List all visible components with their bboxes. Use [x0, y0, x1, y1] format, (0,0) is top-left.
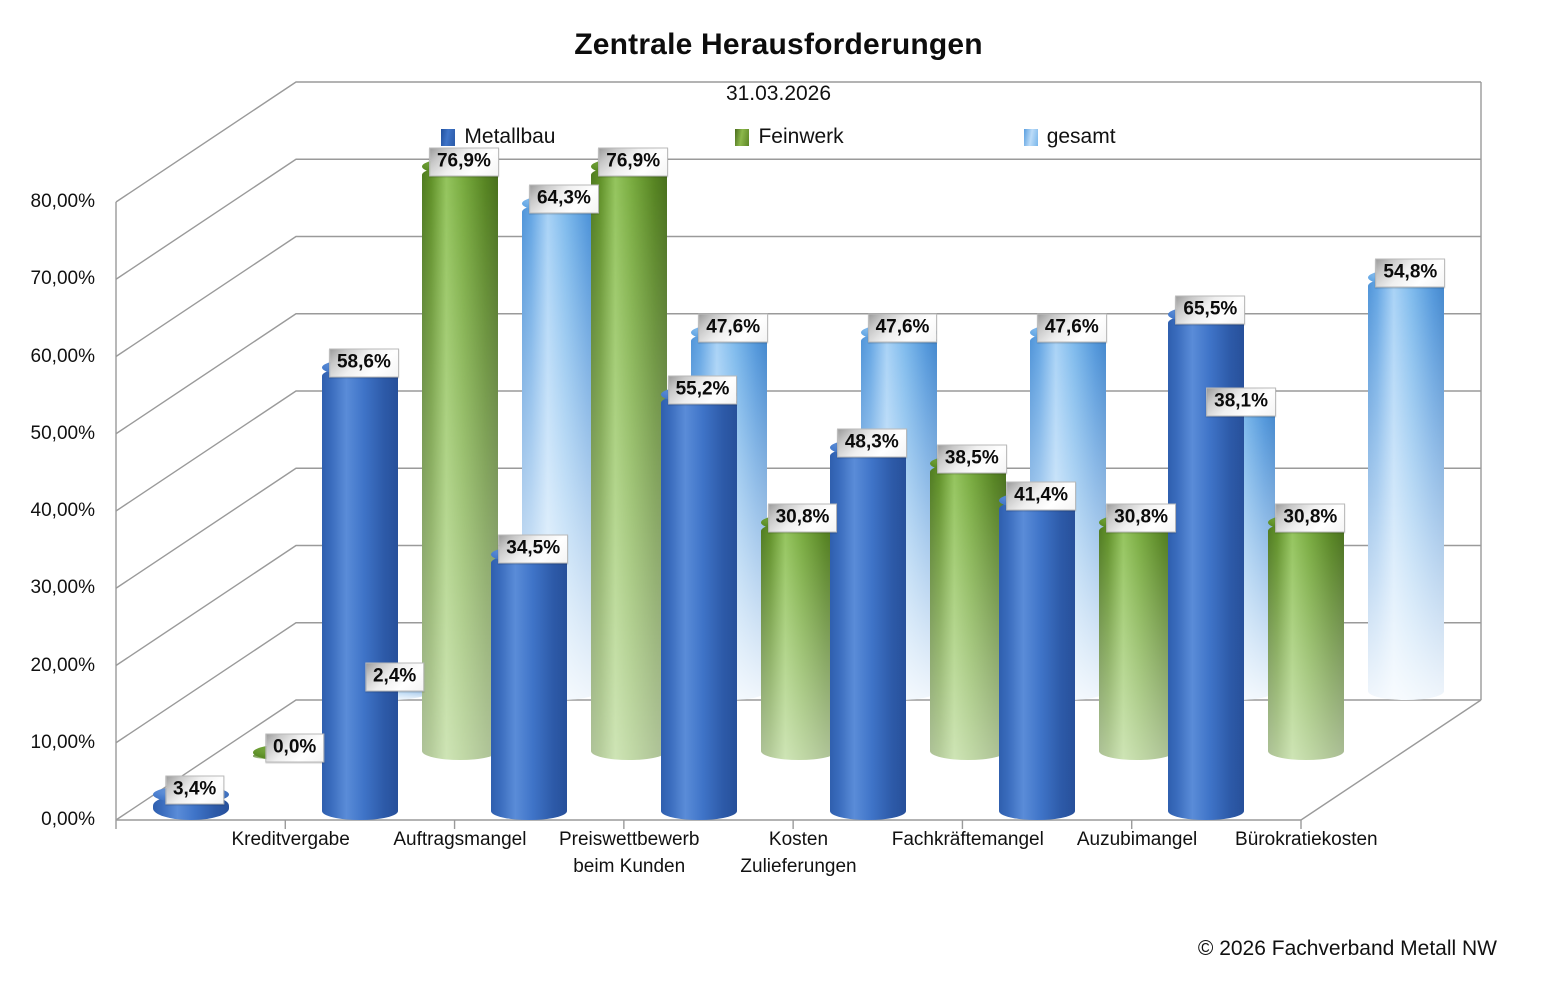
data-label: 3,4% [165, 775, 224, 804]
data-label: 30,8% [768, 504, 838, 533]
x-axis-category-label: Auzubimangel [1077, 826, 1197, 853]
legend-item-metallbau[interactable]: Metallbau [441, 125, 555, 149]
data-label: 54,8% [1375, 258, 1445, 287]
legend-item-gesamt[interactable]: gesamt [1024, 125, 1116, 149]
bar-gesamt-6[interactable] [1368, 277, 1444, 700]
data-label: 76,9% [598, 147, 668, 176]
y-axis-tick: 50,00% [31, 423, 95, 445]
bar-feinwerk-2[interactable] [591, 166, 667, 760]
data-label: 64,3% [529, 185, 599, 214]
data-label: 48,3% [837, 428, 907, 457]
data-label: 47,6% [698, 314, 768, 343]
bar-body [491, 554, 567, 821]
legend-label: Metallbau [464, 125, 555, 149]
legend-label: gesamt [1047, 125, 1116, 149]
data-label: 34,5% [498, 535, 568, 564]
bar-body [322, 367, 398, 820]
chart-title: Zentrale Herausforderungen [0, 28, 1557, 62]
x-axis-category-label: Fachkräftemangel [892, 826, 1044, 853]
bar-body [591, 166, 667, 760]
bar-metallbau-1[interactable] [322, 367, 398, 820]
legend-label: Feinwerk [758, 125, 843, 149]
data-label: 58,6% [329, 349, 399, 378]
y-axis-tick: 10,00% [31, 732, 95, 754]
y-axis-tick: 30,00% [31, 577, 95, 599]
x-axis-category-label: Auftragsmangel [393, 826, 526, 853]
data-label: 38,5% [937, 444, 1007, 473]
bar-body [830, 447, 906, 820]
bar-metallbau-3[interactable] [661, 394, 737, 820]
bar-feinwerk-4[interactable] [930, 463, 1006, 760]
y-axis-tick: 60,00% [31, 346, 95, 368]
bar-body [1268, 522, 1344, 760]
bar-feinwerk-3[interactable] [761, 522, 837, 760]
bar-feinwerk-6[interactable] [1268, 522, 1344, 760]
bar-metallbau-2[interactable] [491, 554, 567, 821]
bar-metallbau-5[interactable] [999, 500, 1075, 820]
data-label: 55,2% [668, 375, 738, 404]
bar-body [930, 463, 1006, 760]
y-axis-tick: 40,00% [31, 500, 95, 522]
legend-item-feinwerk[interactable]: Feinwerk [735, 125, 843, 149]
legend-swatch-icon [441, 129, 455, 146]
bar-body [422, 166, 498, 760]
data-label: 38,1% [1206, 387, 1276, 416]
data-label: 47,6% [1037, 314, 1107, 343]
y-axis-tick: 20,00% [31, 655, 95, 677]
bar-feinwerk-5[interactable] [1099, 522, 1175, 760]
y-axis-tick: 70,00% [31, 268, 95, 290]
bar-body [999, 500, 1075, 820]
bar-body [1099, 522, 1175, 760]
data-label: 76,9% [429, 147, 499, 176]
bar-feinwerk-1[interactable] [422, 166, 498, 760]
bar-metallbau-4[interactable] [830, 447, 906, 820]
legend-swatch-icon [1024, 129, 1038, 146]
legend-swatch-icon [735, 129, 749, 146]
bar-series-group: 2,4%64,3%47,6%47,6%47,6%38,1%54,8%0,0%76… [110, 186, 1540, 820]
data-label: 47,6% [868, 314, 938, 343]
chart-legend: Metallbau Feinwerk gesamt [0, 125, 1557, 149]
data-label: 0,0% [265, 734, 324, 763]
x-axis-category-label: Bürokratiekosten [1235, 826, 1378, 853]
x-axis-tick-labels: KreditvergabeAuftragsmangelPreiswettbewe… [0, 826, 1557, 896]
x-axis-category-label: Kosten Zulieferungen [740, 826, 856, 880]
chart-subtitle: 31.03.2026 [0, 82, 1557, 106]
data-label: 30,8% [1275, 504, 1345, 533]
bar-body [1368, 277, 1444, 700]
y-axis-tick-labels: 0,00%10,00%20,00%30,00%40,00%50,00%60,00… [0, 186, 103, 820]
copyright-footer: © 2026 Fachverband Metall NW [1198, 937, 1497, 961]
y-axis-tick: 80,00% [31, 191, 95, 213]
data-label: 30,8% [1106, 504, 1176, 533]
plot-area: 2,4%64,3%47,6%47,6%47,6%38,1%54,8%0,0%76… [110, 186, 1540, 820]
data-label: 65,5% [1175, 296, 1245, 325]
data-label: 41,4% [1006, 482, 1076, 511]
bar-body [761, 522, 837, 760]
chart-container: Zentrale Herausforderungen 31.03.2026 Me… [0, 0, 1557, 999]
bar-body [661, 394, 737, 820]
data-label: 2,4% [365, 663, 424, 692]
x-axis-category-label: Preiswettbewerb beim Kunden [559, 826, 699, 880]
x-axis-category-label: Kreditvergabe [231, 826, 349, 853]
